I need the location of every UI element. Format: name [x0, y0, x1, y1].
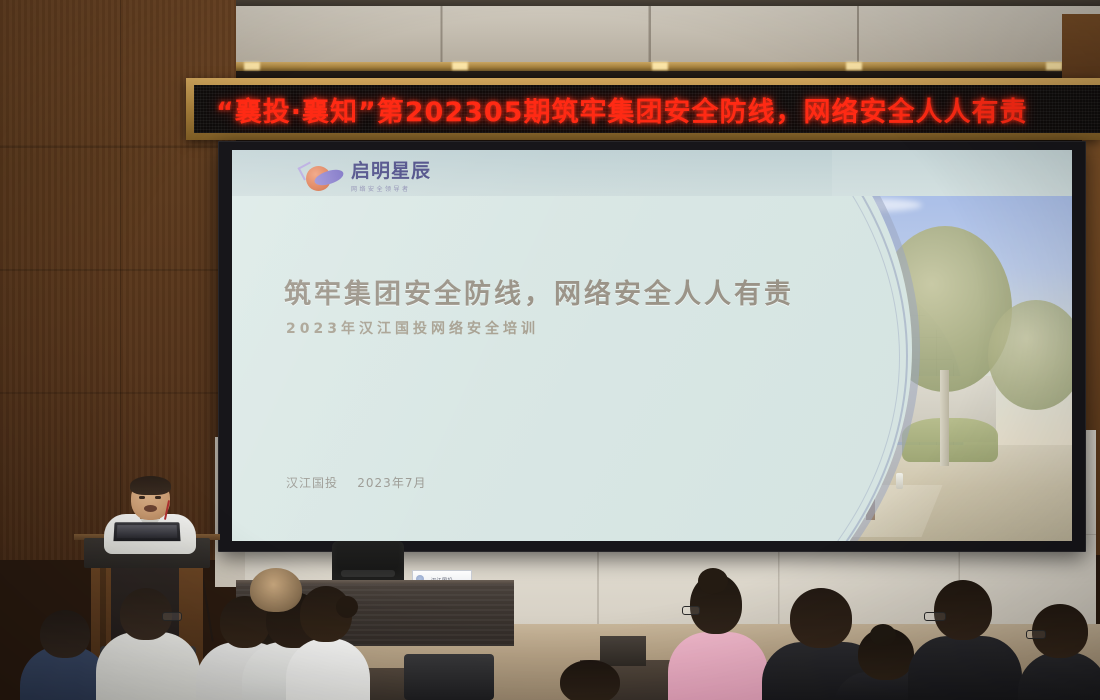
audience-member [908, 580, 1022, 700]
lecture-hall-photo: “襄投·襄知”第202305期筑牢集团安全防线，网络安全人人有责 [0, 0, 1100, 700]
person-body [668, 632, 768, 700]
building-dark-facade [690, 390, 768, 440]
hair-bun [698, 568, 728, 594]
slide-footer-date: 2023年7月 [357, 476, 426, 490]
planet-ring-icon [300, 163, 344, 193]
glasses-icon [924, 612, 946, 621]
person-head [934, 580, 992, 640]
photo-ground [652, 445, 1072, 541]
ceiling-light-icon [846, 62, 862, 70]
led-banner-text: “襄投·襄知”第202305期筑牢集团安全防线，网络安全人人有责 [194, 90, 1027, 129]
slide-footer-org: 汉江国投 [286, 476, 338, 490]
ceiling-light-icon [452, 62, 468, 70]
person-head [560, 660, 620, 700]
glasses-icon [162, 612, 182, 621]
audience-member [250, 568, 302, 614]
logo-brand-tagline: 网络安全领导者 [351, 184, 431, 193]
person-body [1018, 652, 1100, 700]
executive-chair [332, 541, 404, 583]
building-sign [780, 386, 838, 395]
glasses-icon [682, 606, 700, 615]
upper-right-wood-panel [1062, 14, 1100, 86]
ring-icon [313, 166, 346, 188]
seat-back [404, 654, 494, 700]
hair-bun [870, 624, 896, 646]
wall-seam [120, 0, 121, 560]
slide-photo-building [652, 150, 1072, 541]
slide-subtitle: 2023年汉江国投网络安全培训 [286, 318, 539, 338]
planet-icon [306, 166, 331, 191]
person-body [908, 636, 1022, 700]
tree-icon [878, 226, 1012, 392]
building-front-block [770, 366, 866, 440]
presenter-eye [155, 496, 161, 499]
led-screen: “襄投·襄知”第202305期筑牢集团安全防线，网络安全人人有责 [194, 85, 1100, 133]
logo-brand-name: 启明星辰 [351, 162, 431, 181]
audience-member [1018, 604, 1100, 700]
ceiling-light-icon [652, 62, 668, 70]
led-banner: “襄投·襄知”第202305期筑牢集团安全防线，网络安全人人有责 [186, 78, 1100, 140]
presenter-hair [130, 476, 171, 495]
person-body [96, 632, 200, 700]
presenter-mouth [144, 505, 157, 512]
slide-title: 筑牢集团安全防线，网络安全人人有责 [284, 272, 844, 311]
presenter-eye [139, 496, 145, 499]
slide-top-band-inner [232, 150, 832, 196]
person-head [250, 568, 302, 612]
slide-top-band [232, 150, 1072, 196]
hair-bun [336, 596, 358, 618]
tree-trunk [940, 370, 949, 466]
audience-member [560, 660, 630, 700]
ceiling-panels [232, 6, 1100, 64]
venustech-logo: 启明星辰 网络安全领导者 [300, 162, 431, 193]
ceiling-light-icon [244, 62, 260, 70]
projection-screen-frame: 启明星辰 网络安全领导者 筑牢集团安全防线，网络安全人人有责 2023年汉江国投… [218, 141, 1086, 552]
audience-member [96, 588, 200, 700]
arched-building [694, 268, 964, 448]
slide-arc-shape [232, 150, 912, 541]
person-body [286, 638, 370, 700]
ceiling-light-icon [1046, 62, 1062, 70]
slide-accent-curve [232, 150, 900, 541]
presenter-laptop [113, 522, 180, 541]
screen-glare [232, 150, 1072, 541]
presentation-slide: 启明星辰 网络安全领导者 筑牢集团安全防线，网络安全人人有责 2023年汉江国投… [232, 150, 1072, 541]
slide-accent-curve [232, 150, 908, 541]
building-right-block [866, 376, 996, 442]
slide-footer: 汉江国投 2023年7月 [286, 474, 426, 491]
tree-icon [988, 300, 1072, 410]
person-head [40, 610, 90, 658]
trash-bin-icon [678, 463, 692, 485]
audience-member [668, 574, 768, 700]
spark-icon [298, 161, 317, 180]
photo-walkway [671, 485, 942, 537]
glasses-icon [1026, 630, 1046, 639]
